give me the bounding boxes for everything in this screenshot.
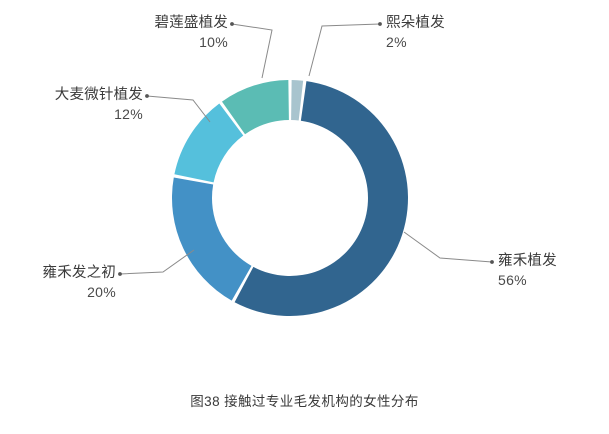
leader-line-yonghefazhichu [120, 250, 194, 274]
leader-dot-bilian [230, 22, 234, 26]
slice-xiduo[interactable] [291, 80, 303, 120]
leader-dot-xiduo [378, 22, 382, 26]
callout-yonghe-name: 雍禾植发 [498, 253, 557, 269]
callout-yonghe: 雍禾植发 56% [498, 252, 557, 290]
donut-chart-canvas [0, 0, 609, 434]
slice-yonghefazhichu[interactable] [172, 178, 251, 301]
callout-xiduo-name: 熙朵植发 [386, 15, 445, 31]
leader-lines [120, 24, 492, 274]
figure-caption: 图38 接触过专业毛发机构的女性分布 [0, 390, 609, 410]
callout-xiduo: 熙朵植发 2% [386, 14, 445, 52]
callout-xiduo-pct: 2% [386, 33, 445, 51]
donut-segments [172, 80, 408, 316]
callout-damai: 大麦微针植发 12% [55, 86, 143, 124]
callout-bilian-pct: 10% [155, 33, 229, 51]
callout-yonghefazhichu-name: 雍禾发之初 [43, 265, 117, 281]
callout-yonghe-pct: 56% [498, 271, 557, 289]
callout-bilian: 碧莲盛植发 10% [155, 14, 229, 52]
callout-bilian-name: 碧莲盛植发 [155, 15, 229, 31]
leader-line-xiduo [309, 24, 380, 76]
donut-chart-figure: 碧莲盛植发 10% 熙朵植发 2% 大麦微针植发 12% 雍禾发之初 20% 雍… [0, 0, 609, 434]
leader-dots [118, 22, 494, 276]
callout-yonghefazhichu: 雍禾发之初 20% [43, 264, 117, 302]
leader-line-yonghe [404, 232, 492, 262]
callout-yonghefazhichu-pct: 20% [43, 283, 117, 301]
callout-damai-pct: 12% [55, 105, 143, 123]
leader-dot-yonghefazhichu [118, 272, 122, 276]
callout-damai-name: 大麦微针植发 [55, 87, 143, 103]
leader-line-damai [147, 96, 210, 122]
leader-line-bilian [232, 24, 272, 78]
leader-dot-yonghe [490, 260, 494, 264]
leader-dot-damai [145, 94, 149, 98]
